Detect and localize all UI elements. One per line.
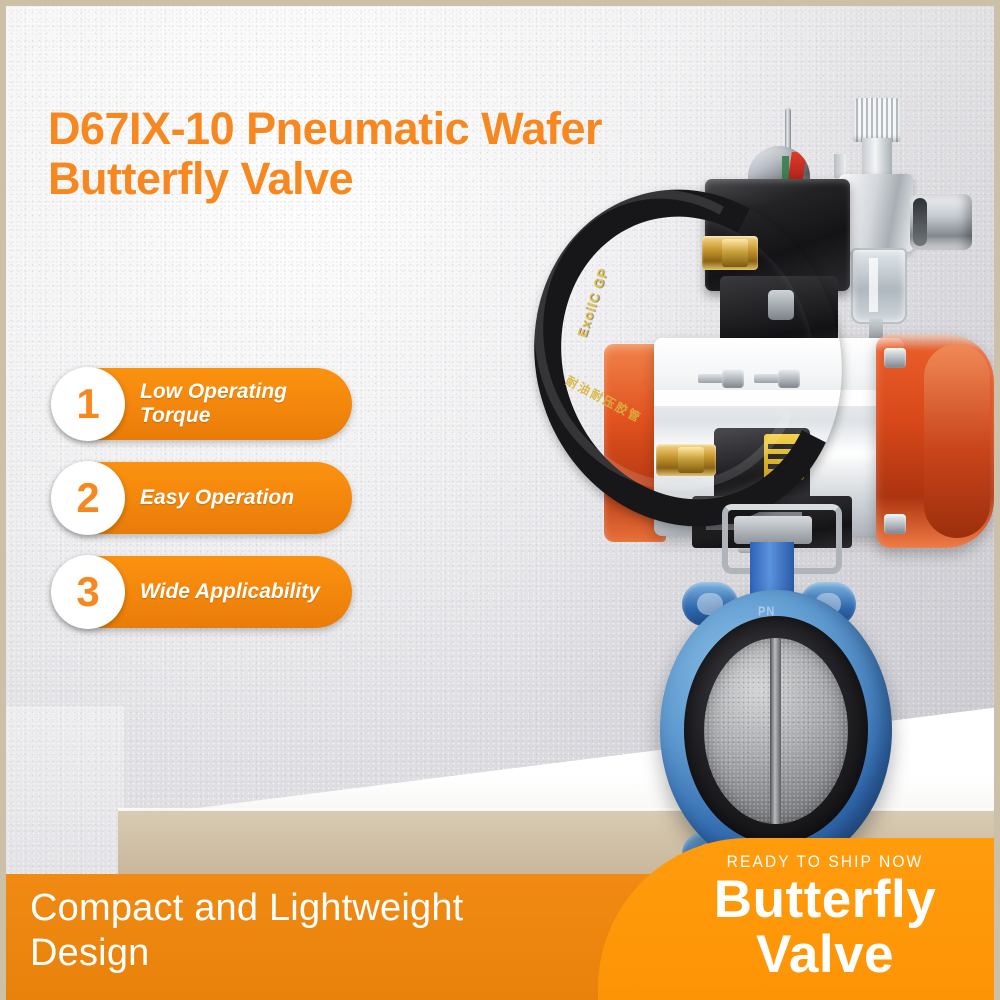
frame-top-border (0, 0, 1000, 6)
stem-yoke-plate (734, 516, 812, 544)
disc-stem-line (770, 638, 781, 824)
feature-item-2[interactable]: 2 Easy Operation (52, 462, 352, 534)
feature-item-1[interactable]: 1 Low Operating Torque (52, 368, 352, 440)
banner-title-line-2: Valve (660, 927, 990, 982)
frl-transparent-bowl (851, 248, 907, 324)
banner-eyebrow: READY TO SHIP NOW (673, 852, 977, 872)
product-poster: ExoilC GP 耐油耐压胶管 PN 10 (0, 0, 1000, 1000)
banner-product-title: Butterfly Valve (660, 872, 990, 982)
number-badge-three-icon: 3 (51, 555, 125, 629)
feature-item-3[interactable]: 3 Wide Applicability (52, 556, 352, 628)
actuator-cap-bolt-top (884, 348, 906, 368)
frl-filter-regulator-body (839, 174, 913, 252)
number-badge-one-icon: 1 (51, 367, 125, 441)
frame-right-border (994, 0, 1000, 1000)
banner-tagline: Compact and Lightweight Design (30, 886, 590, 976)
actuator-cap-bolt-bottom (884, 514, 906, 534)
feature-number-1: 1 (76, 383, 99, 425)
frl-neck (862, 138, 892, 178)
feature-label-3: Wide Applicability (140, 556, 345, 628)
pedestal-left-wall (6, 706, 124, 890)
frl-adjustment-knob-icon (853, 98, 901, 142)
page-title: D67IX-10 Pneumatic Wafer Butterfly Valve (48, 104, 648, 205)
feature-number-3: 3 (76, 571, 99, 613)
feature-number-2: 2 (76, 477, 99, 519)
feature-list: 1 Low Operating Torque 2 Easy Operation … (52, 368, 352, 650)
pedestal-left-texture (6, 706, 124, 890)
number-badge-two-icon: 2 (51, 461, 125, 535)
valve-stainless-disc (704, 638, 848, 824)
pressure-gauge-icon (910, 194, 972, 250)
banner-title-line-1: Butterfly (660, 872, 990, 927)
feature-label-1: Low Operating Torque (140, 368, 345, 440)
feature-label-2: Easy Operation (140, 462, 345, 534)
frame-left-border (0, 0, 6, 1000)
